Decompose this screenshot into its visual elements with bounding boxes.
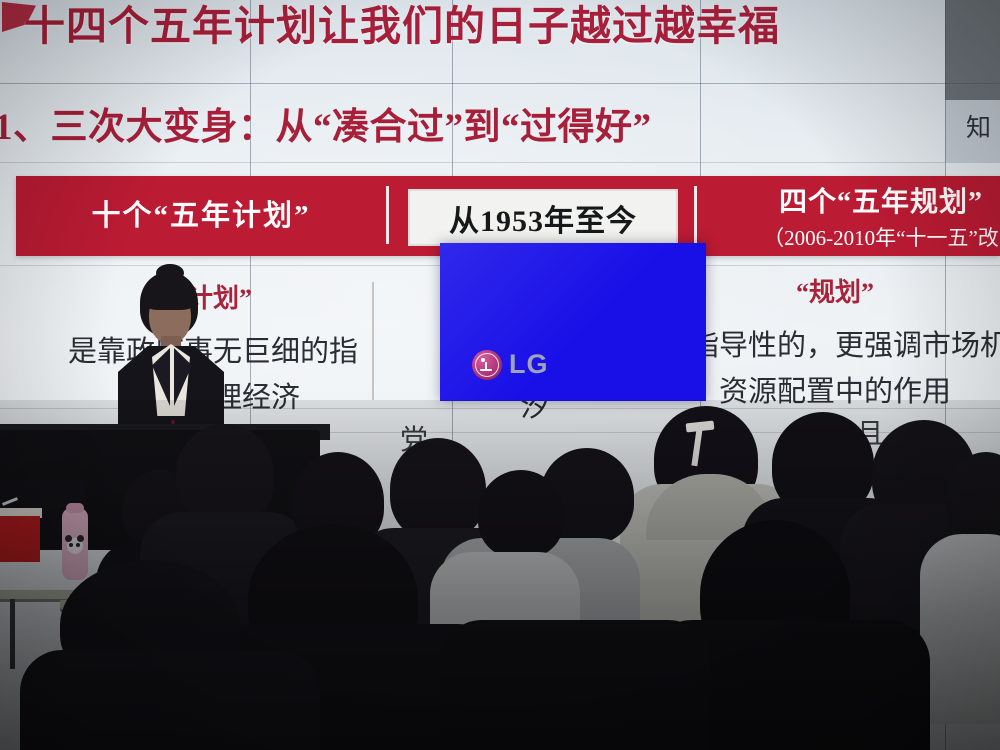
student-head xyxy=(176,424,274,524)
no-signal-blue-screen: LG xyxy=(440,243,706,401)
student-torso xyxy=(20,650,320,750)
column-line: 是指导性的，更强调市场机 xyxy=(660,323,1000,369)
banner-center-text: 从1953年至今 xyxy=(449,196,637,240)
banner-right-subtitle: （2006-2010年“十一五”改 xyxy=(716,222,1000,252)
banner-divider xyxy=(386,186,389,244)
student-torso xyxy=(440,620,710,750)
banner-left-label: 十个“五年计划” xyxy=(36,192,366,234)
lg-mouth xyxy=(480,369,492,371)
lg-ring xyxy=(475,353,499,377)
student-head xyxy=(390,438,486,540)
lg-logo: LG xyxy=(472,349,549,380)
slide-corner-note: 知 xyxy=(966,108,991,144)
student-torso xyxy=(920,534,1000,724)
classroom-photo: 十四个五年计划让我们的日子越过越幸福 1、三次大变身：从“凑合过”到“过得好” … xyxy=(0,0,1000,750)
panda-ear-left xyxy=(65,535,72,542)
desk-leg xyxy=(10,599,15,669)
wall-seam-horizontal xyxy=(0,162,1000,163)
lg-mark-icon xyxy=(472,350,502,380)
chalk-box-red xyxy=(0,516,40,562)
bottle-cap xyxy=(66,503,84,513)
banner-divider xyxy=(694,186,697,244)
panda-water-bottle xyxy=(62,508,88,580)
banner-right-group: 四个“五年规划” （2006-2010年“十一五”改 xyxy=(716,180,1000,252)
wall-panel-dark xyxy=(945,0,1000,100)
wall-seam-horizontal xyxy=(0,83,1000,84)
banner-right-title: 四个“五年规划” xyxy=(716,180,1000,220)
lg-wordmark: LG xyxy=(509,349,549,380)
panda-ear-right xyxy=(77,535,84,542)
banner-center-box: 从1953年至今 xyxy=(408,189,678,246)
column-heading: “规划” xyxy=(660,272,1000,309)
panda-eye-left xyxy=(69,543,73,547)
teacher-hair-front xyxy=(143,286,196,310)
slide-column-planning: “规划” 是指导性的，更强调市场机 资源配置中的作用 xyxy=(660,272,1000,415)
panda-eye-right xyxy=(76,543,80,547)
student-head xyxy=(478,470,564,558)
slide-subtitle: 1、三次大变身：从“凑合过”到“过得好” xyxy=(0,96,854,150)
slide-title: 十四个五年计划让我们的日子越过越幸福 xyxy=(24,0,924,52)
